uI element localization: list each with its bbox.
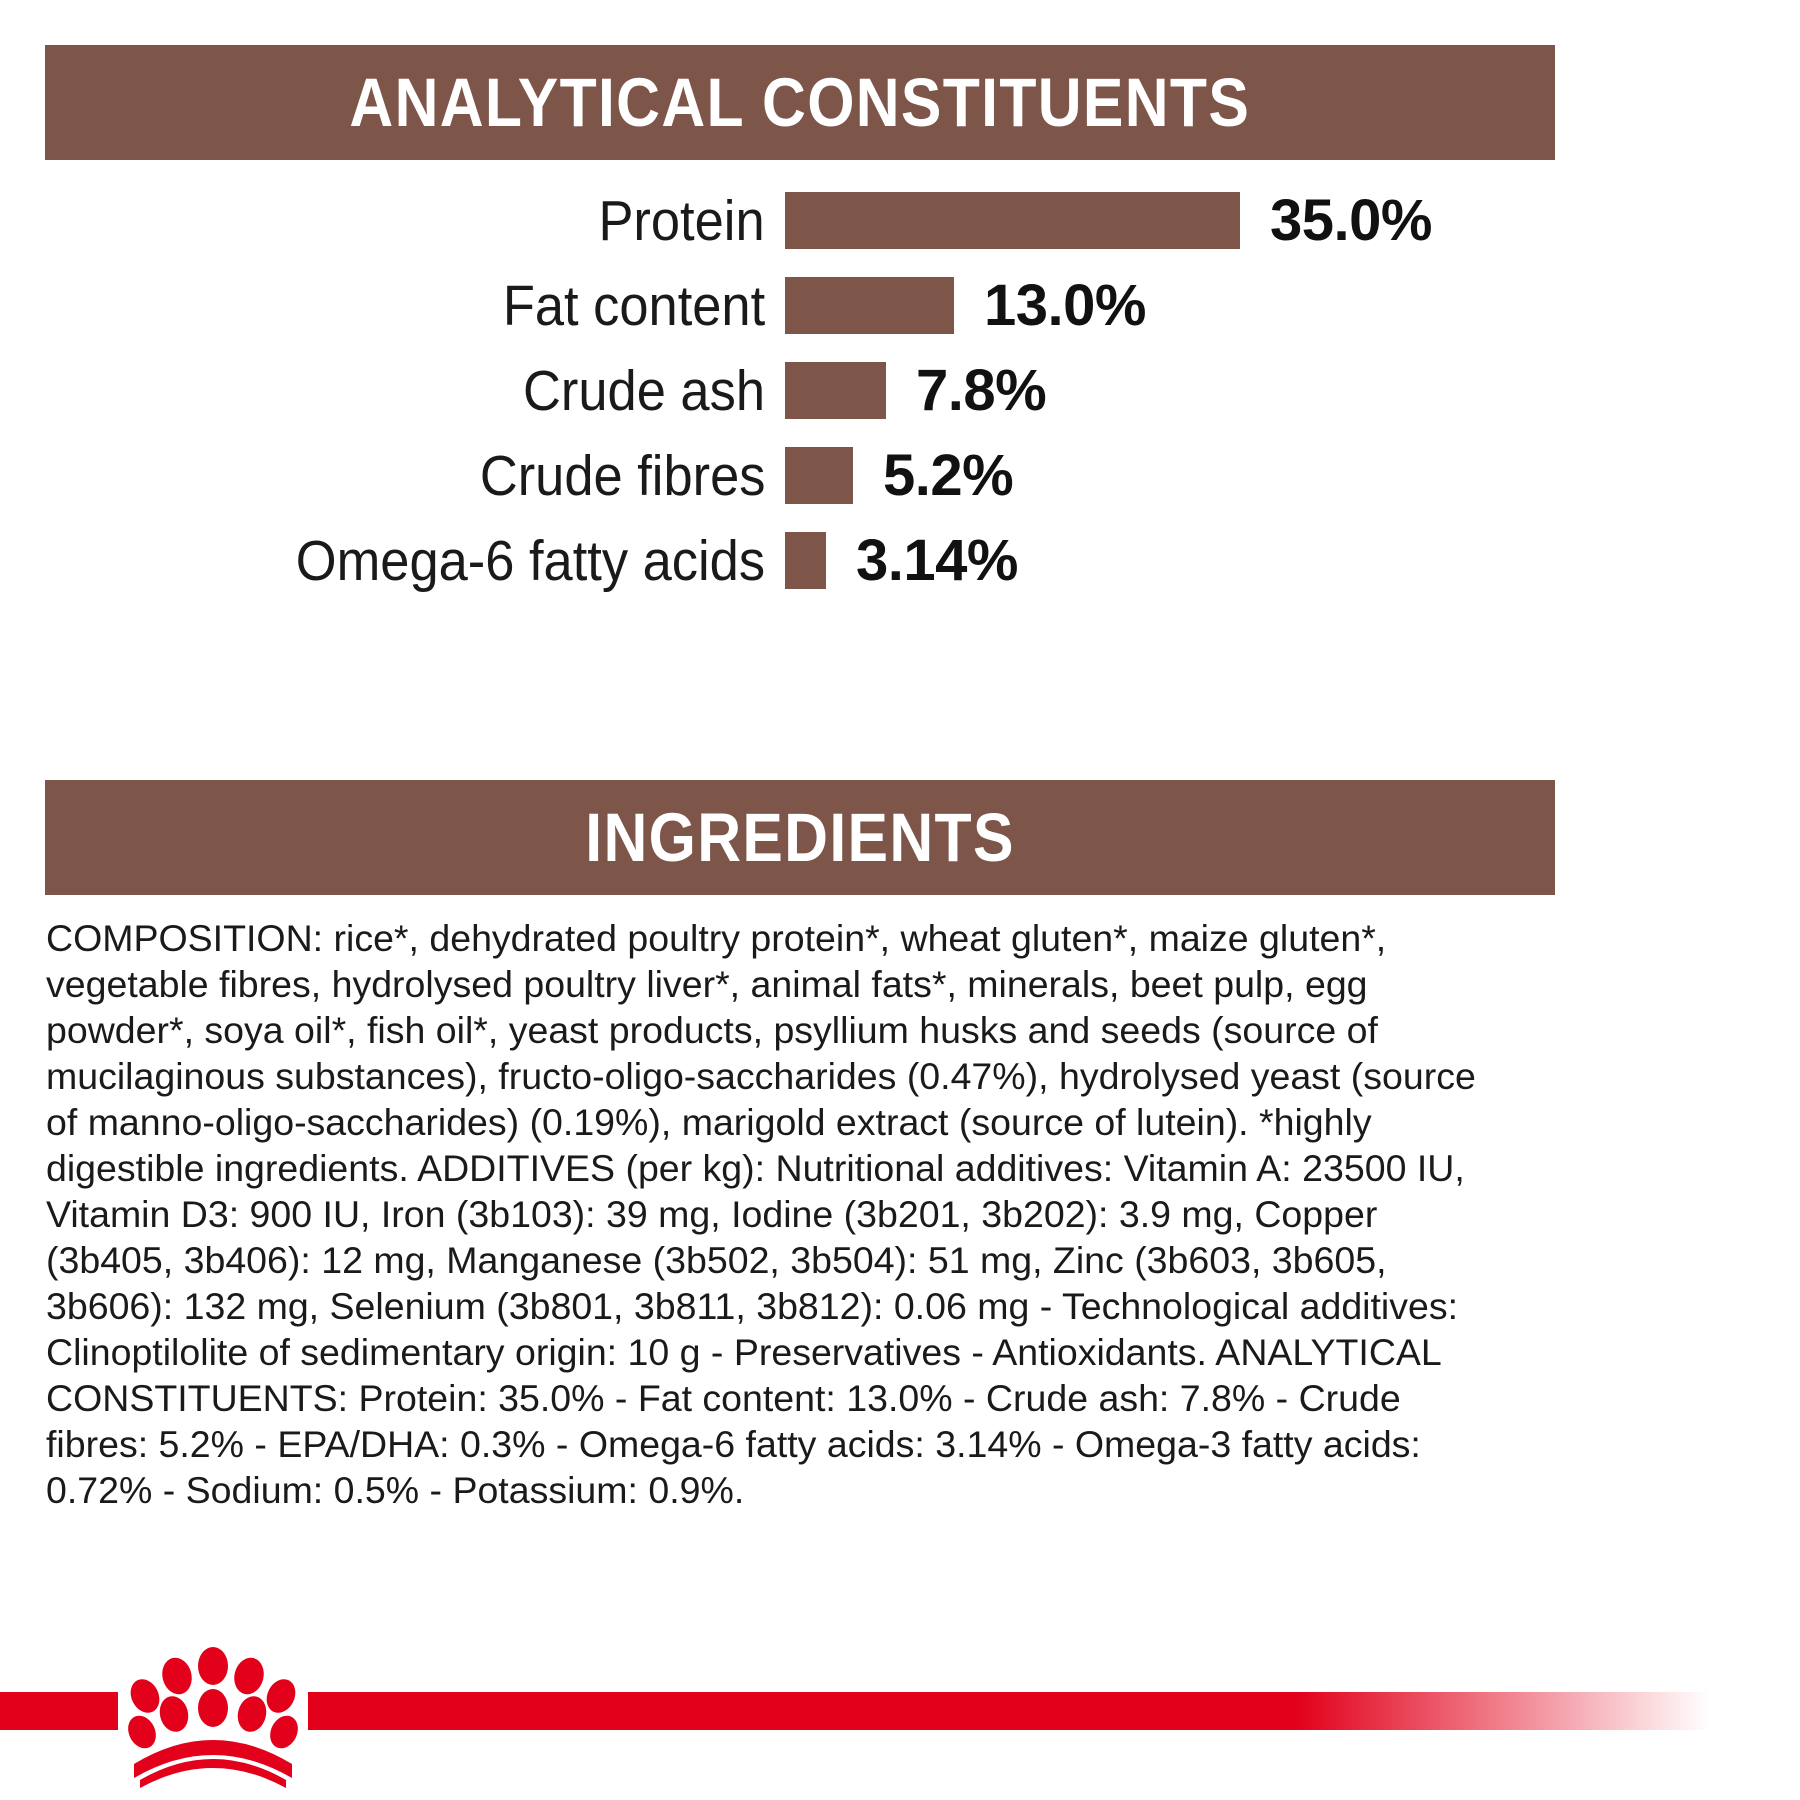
chart-row-value: 13.0% <box>984 272 1146 339</box>
analytical-constituents-banner: ANALYTICAL CONSTITUENTS <box>45 45 1555 160</box>
chart-row: Fat content13.0% <box>0 263 1800 348</box>
chart-row-value: 5.2% <box>883 442 1013 509</box>
chart-row: Omega-6 fatty acids3.14% <box>0 518 1800 603</box>
chart-row-value: 35.0% <box>1270 187 1432 254</box>
chart-bar <box>785 362 886 419</box>
chart-bar <box>785 192 1240 249</box>
chart-row-value: 7.8% <box>916 357 1046 424</box>
chart-row-value: 3.14% <box>856 527 1018 594</box>
ingredients-composition-text: COMPOSITION: rice*, dehydrated poultry p… <box>46 915 1494 1513</box>
royal-canin-crown-logo <box>118 1638 308 1788</box>
chart-bar <box>785 447 853 504</box>
chart-row-label: Omega-6 fatty acids <box>296 528 765 594</box>
chart-row-label: Crude fibres <box>479 443 765 509</box>
analytical-constituents-chart: Protein35.0%Fat content13.0%Crude ash7.8… <box>0 178 1800 603</box>
analytical-constituents-title: ANALYTICAL CONSTITUENTS <box>350 63 1251 142</box>
ingredients-title: INGREDIENTS <box>585 798 1014 877</box>
nutrition-label-page: ANALYTICAL CONSTITUENTS Protein35.0%Fat … <box>0 0 1800 1800</box>
chart-row-label: Crude ash <box>523 358 765 424</box>
chart-row: Crude ash7.8% <box>0 348 1800 433</box>
ingredients-banner: INGREDIENTS <box>45 780 1555 895</box>
crown-icon <box>118 1638 308 1788</box>
chart-row-label: Protein <box>599 188 765 254</box>
chart-row: Protein35.0% <box>0 178 1800 263</box>
chart-row: Crude fibres5.2% <box>0 433 1800 518</box>
chart-row-label: Fat content <box>503 273 765 339</box>
chart-bar <box>785 532 826 589</box>
brand-strip <box>0 1620 1800 1800</box>
chart-bar <box>785 277 954 334</box>
